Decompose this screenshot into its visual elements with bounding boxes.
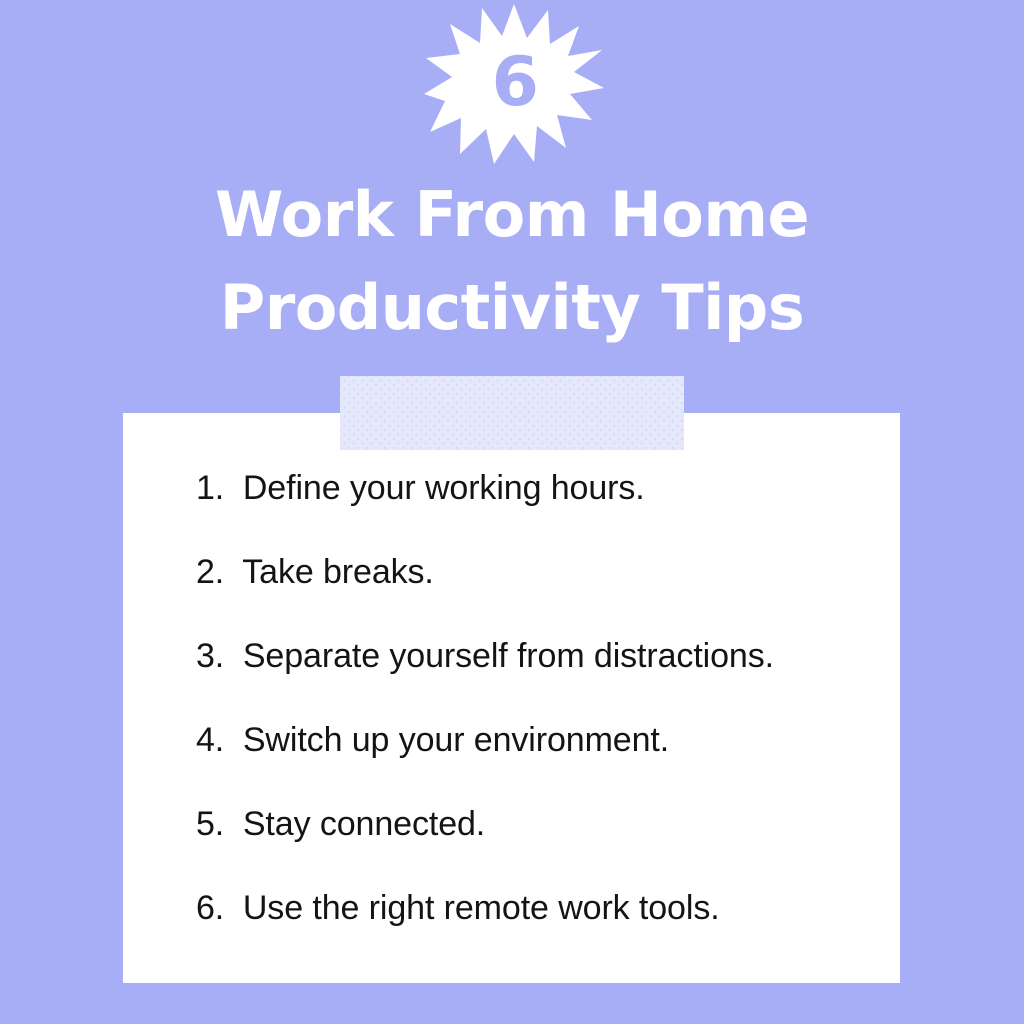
list-item-number: 2. — [196, 553, 234, 591]
list-item: 3. Separate yourself from distractions. — [196, 634, 896, 718]
starburst-badge: 6 — [424, 2, 604, 164]
list-item-number: 3. — [196, 637, 234, 675]
badge-number: 6 — [424, 2, 604, 164]
list-item: 4. Switch up your environment. — [196, 718, 896, 802]
page-title: Work From Home Productivity Tips — [0, 168, 1024, 354]
list-item: 6. Use the right remote work tools. — [196, 886, 896, 970]
list-item-text: Stay connected. — [243, 805, 485, 843]
list-item: 1. Define your working hours. — [196, 466, 896, 550]
list-item: 2. Take breaks. — [196, 550, 896, 634]
accent-block — [340, 376, 684, 450]
list-item-text: Define your working hours. — [243, 469, 645, 507]
page-title-line-1: Work From Home — [0, 168, 1024, 261]
list-item-text: Use the right remote work tools. — [243, 889, 720, 927]
list-item-number: 4. — [196, 721, 234, 759]
list-item-number: 1. — [196, 469, 234, 507]
poster-canvas: 6 Work From Home Productivity Tips 1. De… — [0, 0, 1024, 1024]
list-item-number: 5. — [196, 805, 234, 843]
list-item-text: Separate yourself from distractions. — [243, 637, 774, 675]
list-item: 5. Stay connected. — [196, 802, 896, 886]
page-title-line-2: Productivity Tips — [0, 261, 1024, 354]
tips-list: 1. Define your working hours. 2. Take br… — [196, 466, 896, 970]
list-item-number: 6. — [196, 889, 234, 927]
list-item-text: Take breaks. — [242, 553, 434, 591]
list-item-text: Switch up your environment. — [243, 721, 669, 759]
